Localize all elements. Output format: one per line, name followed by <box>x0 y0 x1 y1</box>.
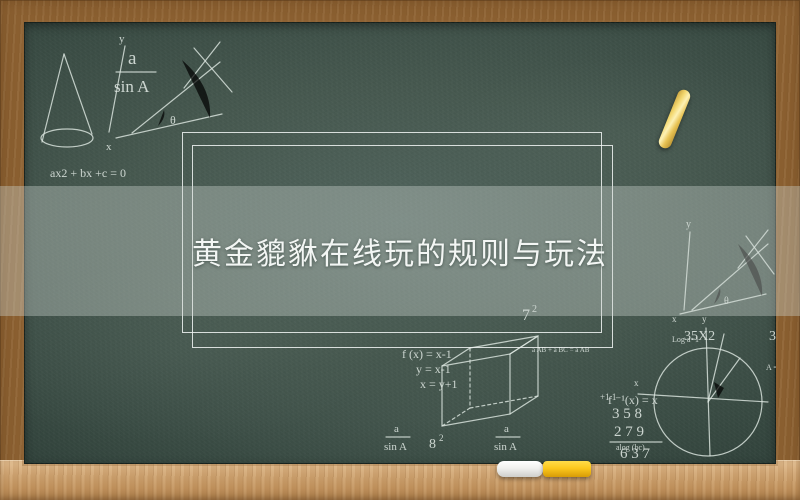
chalk-quadratic-equation: ax2 + bx +c = 0 <box>50 166 126 180</box>
chalk-fraction-a-sinA-left: a sin A <box>384 423 410 453</box>
svg-text:θ: θ <box>170 113 176 127</box>
title-container: 黄金貔貅在线玩的规则与玩法 <box>0 186 800 316</box>
chalk-log-label: Log a=1 <box>672 335 699 344</box>
eraser-icon <box>497 461 543 477</box>
chalk-addition-sum: +1 1 3 5 8 2 7 9 6 3 7 <box>600 392 662 462</box>
chalk-function-equations: f (x) = x-1 y = x-1 x = y+1 <box>402 347 458 391</box>
svg-text:a: a <box>128 48 137 69</box>
chalk-vector-expression: a AB + a BC = a AB <box>532 346 590 354</box>
svg-text:x: x <box>634 378 639 388</box>
svg-text:x: x <box>106 141 112 153</box>
svg-text:f (x) = x-1: f (x) = x-1 <box>402 347 452 361</box>
svg-text:2 7 9: 2 7 9 <box>614 424 644 440</box>
yellow-chalk-icon <box>543 461 591 477</box>
chalk-fraction-a-sinA-mid: a sin A <box>494 423 520 453</box>
svg-text:a: a <box>394 423 399 435</box>
svg-text:sin A: sin A <box>114 77 150 96</box>
svg-text:y = x-1: y = x-1 <box>416 362 451 376</box>
chalk-inverse-function: f ⁻¹(x) = x <box>608 393 658 407</box>
svg-text:sin A: sin A <box>494 441 517 453</box>
chalk-ledge <box>0 460 800 500</box>
chalk-circle-diagram: y x <box>634 314 768 456</box>
chalk-multiplication-1: 35X2 <box>684 329 715 344</box>
chalk-fraction-a-sinA-top: a sin A <box>114 48 156 96</box>
chalk-axes-angle-top: y x θ <box>106 33 232 153</box>
svg-text:8: 8 <box>429 437 436 452</box>
page-title: 黄金貔貅在线玩的规则与玩法 <box>192 229 608 273</box>
chalk-matrix-expression: A =( 1 0 ) B =( 0 1 ) I =( 1 0 ) <box>766 363 776 372</box>
chalk-log-expression: alog (bc) <box>616 443 645 452</box>
chalk-cube-left <box>442 336 538 426</box>
svg-text:x = y+1: x = y+1 <box>420 377 458 391</box>
svg-text:a: a <box>504 423 509 435</box>
chalk-multiplication-2: 3X2 <box>769 329 776 344</box>
svg-text:+1 1: +1 1 <box>600 392 616 402</box>
chalk-eight-squared: 8 2 <box>429 433 444 452</box>
svg-text:y: y <box>119 33 125 45</box>
chalk-cone-figure <box>41 54 93 147</box>
svg-text:3 5 8: 3 5 8 <box>612 406 642 422</box>
svg-text:2: 2 <box>439 433 444 443</box>
svg-text:sin A: sin A <box>384 441 407 453</box>
svg-text:6 3 7: 6 3 7 <box>620 446 651 462</box>
blackboard-banner: a sin A y x θ ax2 + bx +c = 0 <box>0 0 800 500</box>
